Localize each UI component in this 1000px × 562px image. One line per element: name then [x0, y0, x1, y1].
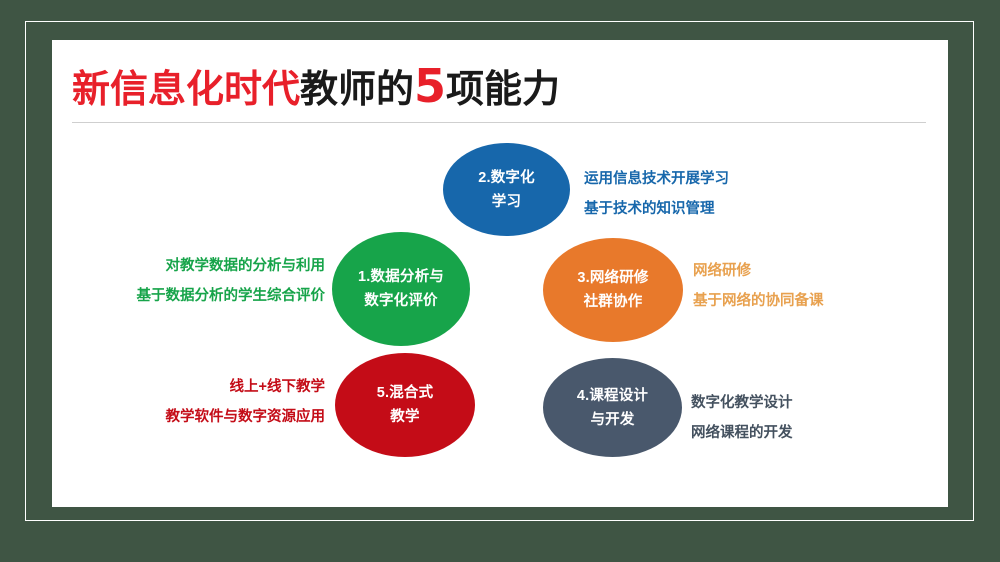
- caption-1-line-2: 基于数据分析的学生综合评价: [95, 281, 325, 311]
- title-part-number: 5: [414, 59, 446, 113]
- caption-5-line-1: 线上+线下教学: [144, 372, 325, 402]
- caption-2-line-2: 基于技术的知识管理: [584, 194, 884, 224]
- bubble-course-design[interactable]: 4.课程设计 与开发: [543, 358, 682, 457]
- caption-5-line-2: 教学软件与数字资源应用: [144, 402, 325, 432]
- bubble-online-training[interactable]: 3.网络研修 社群协作: [543, 238, 683, 342]
- bubble-4-line-2: 与开发: [590, 408, 634, 432]
- caption-4-line-1: 数字化教学设计: [691, 388, 951, 418]
- title-part-red: 新信息化时代: [72, 67, 300, 111]
- slide-canvas: 新信息化时代教师的5项能力 2.数字化 学习 1.数据分析与 数字化评价 3.网…: [0, 0, 1000, 562]
- bubble-4-line-1: 4.课程设计: [577, 384, 648, 408]
- bubble-3-line-2: 社群协作: [584, 290, 643, 314]
- caption-data-analysis: 对教学数据的分析与利用 基于数据分析的学生综合评价: [95, 251, 325, 311]
- caption-1-line-1: 对教学数据的分析与利用: [95, 251, 325, 281]
- bubble-1-line-1: 1.数据分析与: [358, 265, 444, 289]
- bubble-digital-learning[interactable]: 2.数字化 学习: [443, 143, 570, 236]
- title-divider: [72, 122, 926, 123]
- caption-online-training: 网络研修 基于网络的协同备课: [693, 256, 953, 316]
- caption-4-line-2: 网络课程的开发: [691, 418, 951, 448]
- bubble-5-line-2: 教学: [390, 405, 419, 429]
- caption-2-line-1: 运用信息技术开展学习: [584, 164, 884, 194]
- bubble-2-line-2: 学习: [492, 190, 521, 214]
- caption-3-line-2: 基于网络的协同备课: [693, 286, 953, 316]
- caption-3-line-1: 网络研修: [693, 256, 953, 286]
- caption-digital-learning: 运用信息技术开展学习 基于技术的知识管理: [584, 164, 884, 224]
- page-title: 新信息化时代教师的5项能力: [72, 60, 932, 112]
- bubble-data-analysis[interactable]: 1.数据分析与 数字化评价: [332, 232, 470, 346]
- caption-blended-teaching: 线上+线下教学 教学软件与数字资源应用: [144, 372, 325, 432]
- title-part-black-2: 项能力: [446, 67, 560, 111]
- bubble-blended-teaching[interactable]: 5.混合式 教学: [335, 353, 475, 457]
- caption-course-design: 数字化教学设计 网络课程的开发: [691, 388, 951, 448]
- bubble-2-line-1: 2.数字化: [478, 166, 535, 190]
- bubble-3-line-1: 3.网络研修: [577, 266, 648, 290]
- bubble-1-line-2: 数字化评价: [364, 289, 438, 313]
- bubble-5-line-1: 5.混合式: [377, 381, 434, 405]
- title-part-black-1: 教师的: [300, 67, 414, 111]
